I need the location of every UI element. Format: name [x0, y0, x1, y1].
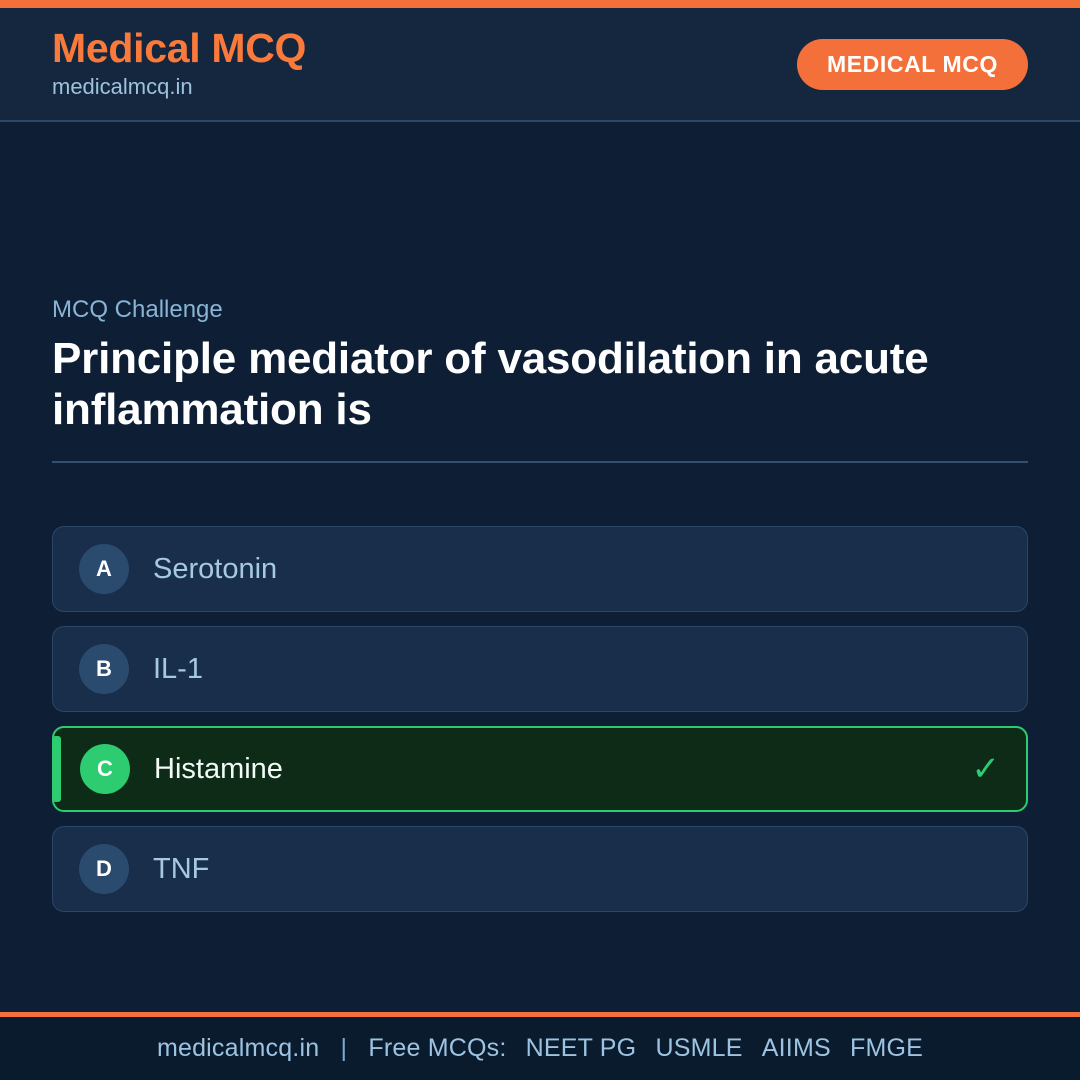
- check-icon: ✓: [972, 752, 1001, 786]
- brand-block: Medical MCQ medicalmcq.in: [52, 27, 306, 101]
- option-c[interactable]: CHistamine✓: [52, 726, 1028, 812]
- mcq-card: Medical MCQ medicalmcq.in MEDICAL MCQ MC…: [0, 0, 1080, 1080]
- footer-exam-aiims: AIIMS: [750, 1034, 831, 1062]
- question-divider: [52, 461, 1028, 463]
- footer-exam-fmge: FMGE: [838, 1034, 923, 1062]
- question-kicker: MCQ Challenge: [52, 296, 1028, 325]
- footer-site: medicalmcq.in: [157, 1034, 319, 1062]
- page-header: Medical MCQ medicalmcq.in MEDICAL MCQ: [0, 8, 1080, 122]
- option-letter-badge: C: [80, 744, 130, 794]
- option-label: Serotonin: [153, 555, 277, 584]
- option-label: TNF: [153, 855, 209, 884]
- options-list: ASerotoninBIL-1CHistamine✓DTNF: [52, 526, 1028, 912]
- correct-accent-bar: [54, 736, 61, 802]
- brand-title: Medical MCQ: [52, 27, 306, 70]
- option-letter-badge: D: [79, 844, 129, 894]
- footer-text: medicalmcq.in | Free MCQs: NEET PG USMLE…: [157, 1034, 923, 1063]
- option-letter-badge: B: [79, 644, 129, 694]
- option-letter-badge: A: [79, 544, 129, 594]
- question-block: MCQ Challenge Principle mediator of vaso…: [52, 296, 1028, 463]
- main-content: MCQ Challenge Principle mediator of vaso…: [0, 122, 1080, 1012]
- option-b[interactable]: BIL-1: [52, 626, 1028, 712]
- option-label: IL-1: [153, 655, 203, 684]
- option-label: Histamine: [154, 755, 283, 784]
- question-text: Principle mediator of vasodilation in ac…: [52, 333, 1028, 436]
- page-footer: medicalmcq.in | Free MCQs: NEET PG USMLE…: [0, 1012, 1080, 1080]
- footer-exam-neet-pg: NEET PG: [514, 1034, 637, 1062]
- option-a[interactable]: ASerotonin: [52, 526, 1028, 612]
- footer-separator: |: [326, 1034, 361, 1062]
- header-badge: MEDICAL MCQ: [797, 39, 1028, 90]
- top-accent-bar: [0, 0, 1080, 8]
- footer-exam-usmle: USMLE: [643, 1034, 742, 1062]
- footer-exams-label: Free MCQs:: [368, 1034, 506, 1062]
- option-d[interactable]: DTNF: [52, 826, 1028, 912]
- brand-subtitle: medicalmcq.in: [52, 73, 306, 101]
